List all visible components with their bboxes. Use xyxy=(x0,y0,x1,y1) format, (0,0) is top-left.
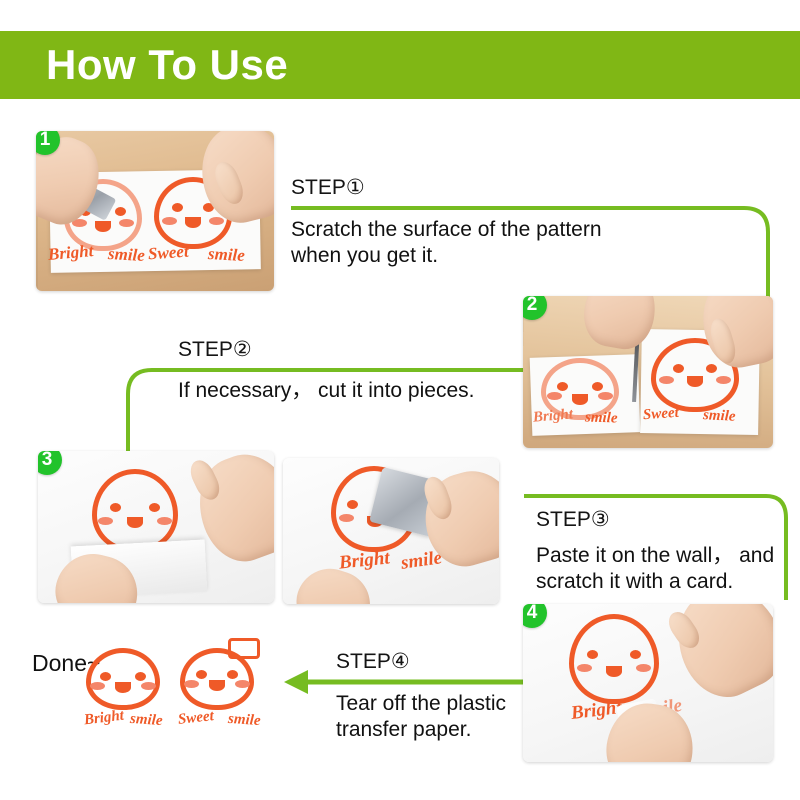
how-to-use-infographic: How To Use Bright smil xyxy=(0,0,800,800)
photo-step-4: Bright smile 4 xyxy=(523,604,773,762)
step-body-2: If necessary， cut it into pieces. xyxy=(178,378,538,404)
decal-caption-bright: Bright xyxy=(47,241,94,265)
step-body-1: Scratch the surface of the pattern when … xyxy=(291,217,621,268)
step-text-1: STEP① Scratch the surface of the pattern… xyxy=(291,176,621,268)
photo-step-2: Bright smile Sweet smile 2 xyxy=(523,296,773,448)
decal-caption-smile-2: smile xyxy=(208,244,246,266)
step-body-4: Tear off the plastic transfer paper. xyxy=(336,691,546,742)
result-caption-bright-smile: smile xyxy=(129,711,163,730)
page-header-banner: How To Use xyxy=(0,31,800,99)
step-text-4: STEP④ Tear off the plastic transfer pape… xyxy=(336,650,546,742)
decal-caption-smile-p2b: smile xyxy=(703,407,736,426)
result-caption-sweet: Sweet xyxy=(177,708,214,729)
page-title: How To Use xyxy=(46,44,288,86)
photo-step-3-detail: Bright smile xyxy=(283,458,499,604)
decal-caption-sweet: Sweet xyxy=(147,242,189,265)
photo-step-3: Bright smile 3 xyxy=(38,451,274,603)
step-label-3: STEP③ xyxy=(536,508,786,531)
step-text-3: STEP③ Paste it on the wall， and scratch … xyxy=(536,508,786,594)
decal-caption-smile-p2: smile xyxy=(585,409,618,427)
decal-caption-bright-p2: Bright xyxy=(532,406,573,426)
step-label-2: STEP② xyxy=(178,338,538,361)
step-label-1: STEP① xyxy=(291,176,621,199)
result-caption-bright: Bright xyxy=(83,708,125,730)
step-text-2: STEP② If necessary， cut it into pieces. xyxy=(178,338,538,404)
photo-step-1: Bright smile Sweet smile 1 xyxy=(36,131,274,291)
decal-caption-sweet-p2: Sweet xyxy=(642,405,679,424)
result-caption-sweet-smile: smile xyxy=(227,711,261,730)
step-body-3: Paste it on the wall， and scratch it wit… xyxy=(536,543,786,594)
result-decal-bright: Bright smile xyxy=(86,648,166,722)
result-decal-sweet: Sweet smile xyxy=(180,644,266,722)
decal-caption-smile: smile xyxy=(108,244,146,266)
step-label-4: STEP④ xyxy=(336,650,546,673)
arrow-head-step4 xyxy=(284,670,308,694)
